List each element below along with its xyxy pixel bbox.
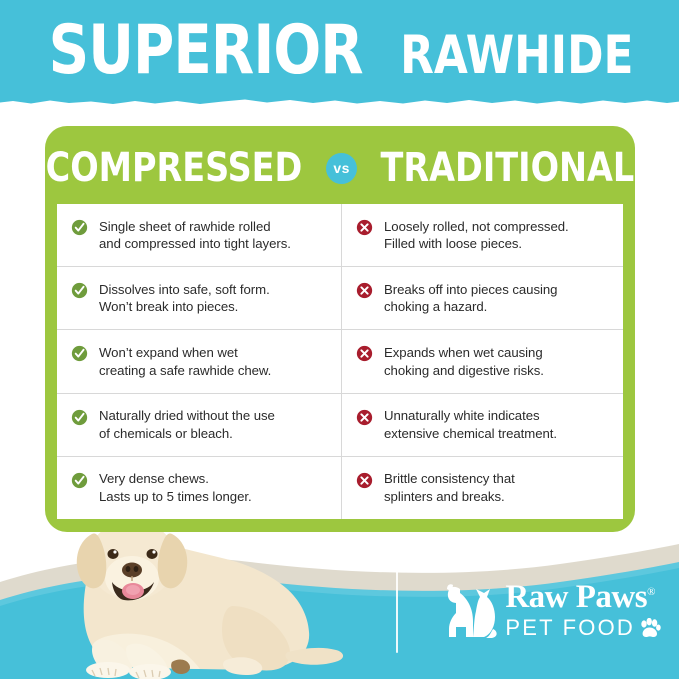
brand-logo: Raw Paws® PET FOOD (396, 567, 661, 653)
infographic-page: SUPERIORRAWHIDE (0, 0, 679, 679)
cell-text: Unnaturally white indicates extensive ch… (384, 407, 557, 442)
check-circle-icon (71, 345, 88, 362)
table-cell-traditional: Unnaturally white indicates extensive ch… (342, 394, 623, 456)
heading-traditional: TRADITIONAL (381, 146, 635, 190)
logo-brand-label: Raw Paws (505, 579, 647, 615)
page-title: SUPERIORRAWHIDE (0, 16, 679, 91)
paw-print-icon (639, 618, 661, 638)
table-cell-traditional: Expands when wet causing choking and dig… (342, 330, 623, 392)
panel-heading: COMPRESSED vs TRADITIONAL (45, 144, 635, 192)
logo-text-block: Raw Paws® PET FOOD (505, 581, 661, 640)
check-circle-icon (71, 472, 88, 489)
check-circle-icon (71, 219, 88, 236)
table-row: Naturally dried without the use of chemi… (57, 394, 623, 457)
torn-edge-icon (0, 94, 679, 104)
logo-tagline-label: PET FOOD (505, 616, 635, 640)
table-cell-compressed: Dissolves into safe, soft form. Won’t br… (57, 267, 342, 329)
cell-text: Breaks off into pieces causing choking a… (384, 281, 557, 316)
title-sub: RAWHIDE (400, 21, 633, 91)
logo-brand-name: Raw Paws® (505, 581, 661, 614)
cell-text: Expands when wet causing choking and dig… (384, 344, 544, 379)
cell-text: Loosely rolled, not compressed. Filled w… (384, 218, 569, 253)
header-band: SUPERIORRAWHIDE (0, 0, 679, 104)
cell-text: Dissolves into safe, soft form. Won’t br… (99, 281, 270, 316)
cell-text: Single sheet of rawhide rolled and compr… (99, 218, 291, 253)
x-circle-icon (356, 219, 373, 236)
title-main: SUPERIOR (49, 16, 363, 86)
logo-tagline: PET FOOD (505, 616, 661, 640)
vs-badge: vs (326, 153, 357, 184)
table-cell-traditional: Loosely rolled, not compressed. Filled w… (342, 204, 623, 266)
x-circle-icon (356, 345, 373, 362)
table-cell-compressed: Naturally dried without the use of chemi… (57, 394, 342, 456)
table-cell-compressed: Single sheet of rawhide rolled and compr… (57, 204, 342, 266)
heading-compressed: COMPRESSED (46, 146, 303, 190)
comparison-panel: COMPRESSED vs TRADITIONAL Single sheet o… (45, 126, 635, 532)
table-cell-traditional: Breaks off into pieces causing choking a… (342, 267, 623, 329)
table-cell-compressed: Won’t expand when wet creating a safe ra… (57, 330, 342, 392)
table-cell-compressed: Very dense chews. Lasts up to 5 times lo… (57, 457, 342, 519)
cell-text: Very dense chews. Lasts up to 5 times lo… (99, 470, 252, 505)
logo-divider (396, 567, 398, 653)
x-circle-icon (356, 472, 373, 489)
table-row: Single sheet of rawhide rolled and compr… (57, 204, 623, 267)
cell-text: Naturally dried without the use of chemi… (99, 407, 275, 442)
check-circle-icon (71, 409, 88, 426)
registered-mark: ® (647, 586, 655, 598)
cell-text: Won’t expand when wet creating a safe ra… (99, 344, 271, 379)
x-circle-icon (356, 282, 373, 299)
table-row: Won’t expand when wet creating a safe ra… (57, 330, 623, 393)
table-cell-traditional: Brittle consistency that splinters and b… (342, 457, 623, 519)
x-circle-icon (356, 409, 373, 426)
table-row: Dissolves into safe, soft form. Won’t br… (57, 267, 623, 330)
check-circle-icon (71, 282, 88, 299)
comparison-table: Single sheet of rawhide rolled and compr… (57, 204, 623, 519)
vs-label: vs (333, 161, 350, 175)
table-row: Very dense chews. Lasts up to 5 times lo… (57, 457, 623, 519)
cell-text: Brittle consistency that splinters and b… (384, 470, 515, 505)
dog-and-cat-silhouette-icon (440, 579, 498, 641)
